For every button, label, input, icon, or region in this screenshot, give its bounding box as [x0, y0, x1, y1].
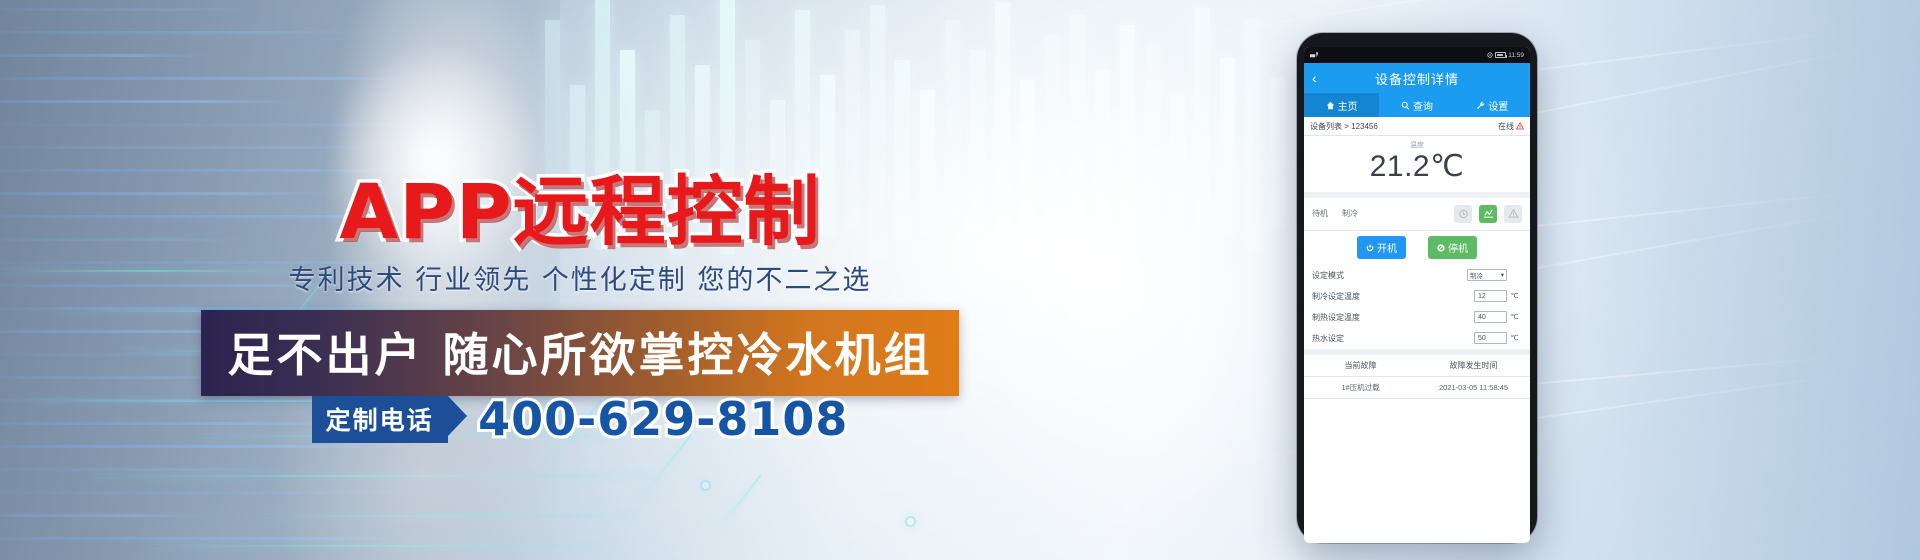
search-icon [1401, 101, 1410, 110]
location-icon [1487, 52, 1493, 58]
setting-row-cool-temp: 制冷设定温度 12 ℃ [1304, 286, 1530, 307]
headline: APP远程控制 [0, 150, 1160, 260]
setting-label-mode: 设定模式 [1312, 270, 1344, 281]
tab-settings-label: 设置 [1488, 98, 1508, 113]
status-right-icons: 11:59 [1487, 52, 1524, 59]
setting-unit-cool-temp: ℃ [1507, 292, 1522, 300]
breadcrumb-path: 设备列表 > 123456 [1310, 121, 1378, 132]
fault-table: 当前故障 故障发生时间 1#压机过载 2021-03-05 11:58:45 [1304, 355, 1530, 399]
cool-temp-input[interactable]: 12 [1474, 290, 1507, 302]
fault-col-name: 当前故障 [1304, 360, 1417, 371]
power-on-button[interactable]: 开机 [1357, 236, 1406, 259]
state-label-standby: 待机 [1312, 208, 1328, 219]
tab-settings[interactable]: 设置 [1455, 93, 1530, 117]
back-icon[interactable]: ‹ [1312, 71, 1317, 85]
setting-label-heat-temp: 制热设定温度 [1312, 312, 1360, 323]
stop-icon [1437, 244, 1445, 252]
power-off-label: 停机 [1448, 240, 1468, 255]
signal-icon [1310, 52, 1319, 58]
contact-tag: 定制电话 [312, 396, 448, 443]
online-status-label: 在线 [1498, 121, 1514, 132]
banner-copy: APP远程控制 专利技术 行业领先 个性化定制 您的不二之选 足不出户 随心所欲… [0, 0, 1160, 560]
state-label-cooling: 制冷 [1342, 208, 1358, 219]
device-state-row: 待机 制冷 [1304, 198, 1530, 231]
phone-number[interactable]: 400-629-8108 [478, 392, 848, 446]
status-left-icons [1310, 52, 1319, 58]
chart-icon[interactable] [1479, 205, 1497, 223]
online-status-badge: 在线 [1498, 121, 1524, 132]
setting-row-hotwater: 热水设定 50 ℃ [1304, 328, 1530, 349]
alarm-triangle-icon[interactable] [1504, 205, 1522, 223]
tab-home-label: 主页 [1338, 98, 1358, 113]
home-icon [1326, 101, 1335, 110]
subheadline: 专利技术 行业领先 个性化定制 您的不二之选 [0, 258, 1160, 297]
setting-unit-heat-temp: ℃ [1507, 313, 1522, 321]
chart-glyph [1483, 208, 1494, 219]
breadcrumb[interactable]: 设备列表 > 123456 在线 [1304, 117, 1530, 136]
timer-icon[interactable] [1454, 205, 1472, 223]
state-icon-buttons [1454, 205, 1522, 223]
mode-select-value: 制冷 [1470, 270, 1483, 280]
warning-triangle-icon [1516, 122, 1524, 130]
tab-home[interactable]: 主页 [1304, 93, 1379, 117]
setting-row-heat-temp: 制热设定温度 40 ℃ [1304, 307, 1530, 328]
table-row[interactable]: 1#压机过载 2021-03-05 11:58:45 [1304, 377, 1530, 399]
setting-unit-hotwater: ℃ [1507, 334, 1522, 342]
power-on-label: 开机 [1377, 240, 1397, 255]
wrench-icon [1476, 101, 1485, 110]
phone-screen: 11:59 ‹ 设备控制详情 主页 查询 设置 [1304, 47, 1530, 543]
promo-banner: APP远程控制 专利技术 行业领先 个性化定制 您的不二之选 足不出户 随心所欲… [0, 0, 1920, 560]
temperature-readout: 温度 21.2℃ [1304, 136, 1530, 198]
mode-select[interactable]: 制冷 ▾ [1467, 269, 1507, 281]
tab-query-label: 查询 [1413, 98, 1433, 113]
heat-temp-input[interactable]: 40 [1474, 311, 1507, 323]
chevron-down-icon: ▾ [1501, 271, 1504, 279]
hotwater-input[interactable]: 50 [1474, 332, 1507, 344]
contact-line: 定制电话 400-629-8108 [0, 392, 1160, 446]
background-right-streaks [1160, 0, 1920, 560]
tab-query[interactable]: 查询 [1379, 93, 1454, 117]
status-time: 11:59 [1508, 52, 1524, 59]
setting-label-cool-temp: 制冷设定温度 [1312, 291, 1360, 302]
power-off-button[interactable]: 停机 [1428, 236, 1477, 259]
temperature-value: 21.2℃ [1304, 150, 1530, 184]
action-button-row: 开机 停机 [1304, 231, 1530, 265]
phone-tabbar: 主页 查询 设置 [1304, 93, 1530, 117]
ribbon-text: 足不出户 随心所欲掌控冷水机组 [201, 310, 958, 396]
phone-navbar: ‹ 设备控制详情 [1304, 63, 1530, 93]
fault-cell-time: 2021-03-05 11:58:45 [1417, 383, 1530, 392]
page-title: 设备控制详情 [1304, 69, 1530, 88]
timer-glyph [1458, 208, 1469, 219]
battery-icon [1495, 52, 1506, 58]
setting-label-hotwater: 热水设定 [1312, 333, 1344, 344]
fault-col-time: 故障发生时间 [1417, 360, 1530, 371]
fault-table-header: 当前故障 故障发生时间 [1304, 355, 1530, 377]
alarm-glyph [1508, 208, 1519, 219]
setting-row-mode: 设定模式 制冷 ▾ [1304, 265, 1530, 286]
phone-mockup: 11:59 ‹ 设备控制详情 主页 查询 设置 [1297, 33, 1537, 543]
temperature-label: 温度 [1304, 140, 1530, 150]
fault-cell-name: 1#压机过载 [1304, 382, 1417, 393]
ribbon-container: 足不出户 随心所欲掌控冷水机组 [0, 310, 1160, 396]
phone-status-bar: 11:59 [1304, 47, 1530, 63]
power-icon [1366, 244, 1374, 252]
